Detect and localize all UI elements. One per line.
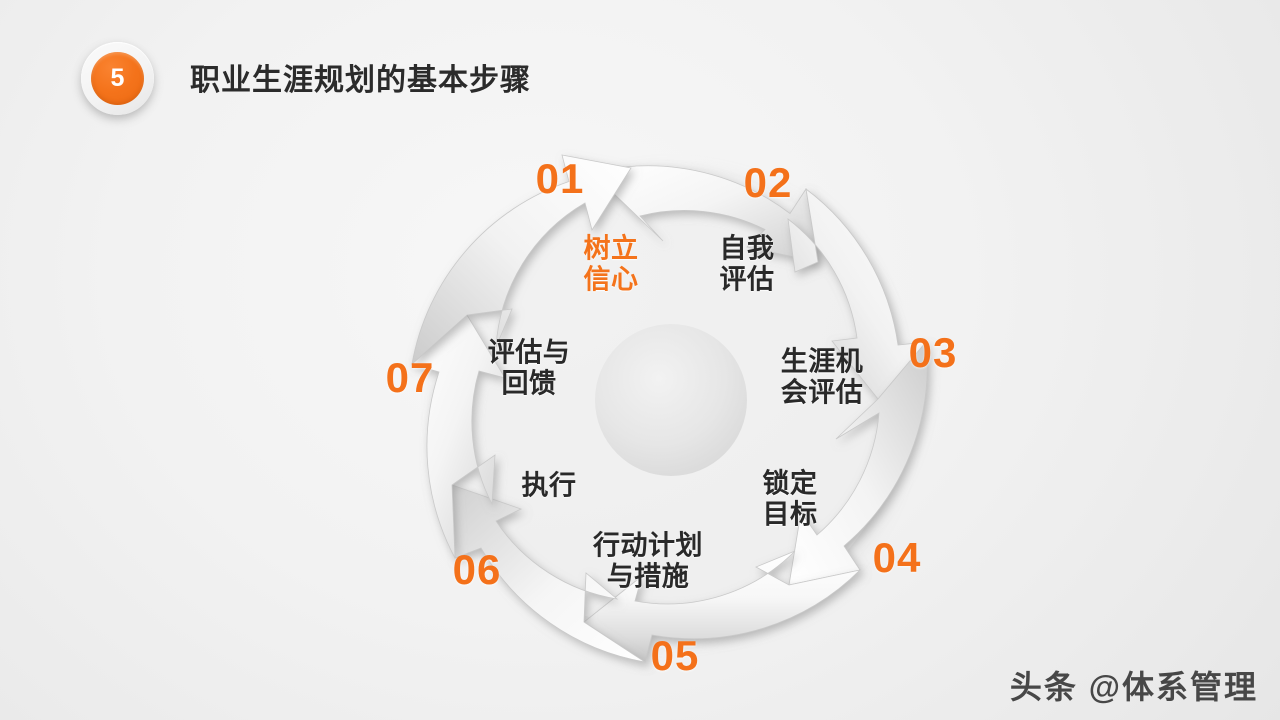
cycle-label-01: 树立 信心 <box>584 234 639 297</box>
cycle-label-04: 锁定 目标 <box>763 469 818 532</box>
cycle-label-07-line1: 评估与 <box>488 338 571 369</box>
cycle-number-03: 03 <box>909 332 958 374</box>
cycle-label-04-line2: 目标 <box>763 500 818 531</box>
cycle-label-03: 生涯机 会评估 <box>781 347 864 410</box>
slide-canvas: 5 职业生涯规划的基本步骤 <box>0 0 1280 720</box>
cycle-label-02-line2: 评估 <box>720 265 775 296</box>
cycle-label-02: 自我 评估 <box>720 234 775 297</box>
cycle-label-07: 评估与 回馈 <box>488 338 571 401</box>
cycle-label-04-line1: 锁定 <box>763 469 818 500</box>
cycle-label-02-line1: 自我 <box>720 234 775 265</box>
cycle-number-02: 02 <box>744 162 793 204</box>
cycle-label-05-line2: 与措施 <box>593 562 703 593</box>
cycle-label-06-line1: 执行 <box>522 470 577 501</box>
cycle-label-05-line1: 行动计划 <box>593 531 703 562</box>
watermark: 头条 @体系管理 <box>1010 662 1258 708</box>
cycle-number-06: 06 <box>453 549 502 591</box>
cycle-label-05: 行动计划 与措施 <box>593 531 703 594</box>
cycle-label-03-line1: 生涯机 <box>781 347 864 378</box>
cycle-number-04: 04 <box>873 537 922 579</box>
cycle-label-03-line2: 会评估 <box>781 378 864 409</box>
cycle-label-06: 执行 <box>522 470 577 501</box>
cycle-number-01: 01 <box>536 158 585 200</box>
cycle-label-01-line1: 树立 <box>584 234 639 265</box>
cycle-label-07-line2: 回馈 <box>488 369 571 400</box>
cycle-number-05: 05 <box>651 635 700 677</box>
cycle-center-hole <box>595 324 747 476</box>
cycle-diagram-graphic <box>0 0 1280 720</box>
cycle-number-07: 07 <box>386 357 435 399</box>
cycle-label-01-line2: 信心 <box>584 265 639 296</box>
cycle-diagram: 树立 信心 自我 评估 生涯机 会评估 锁定 目标 行动计划 与措施 执行 评估… <box>0 0 1280 720</box>
